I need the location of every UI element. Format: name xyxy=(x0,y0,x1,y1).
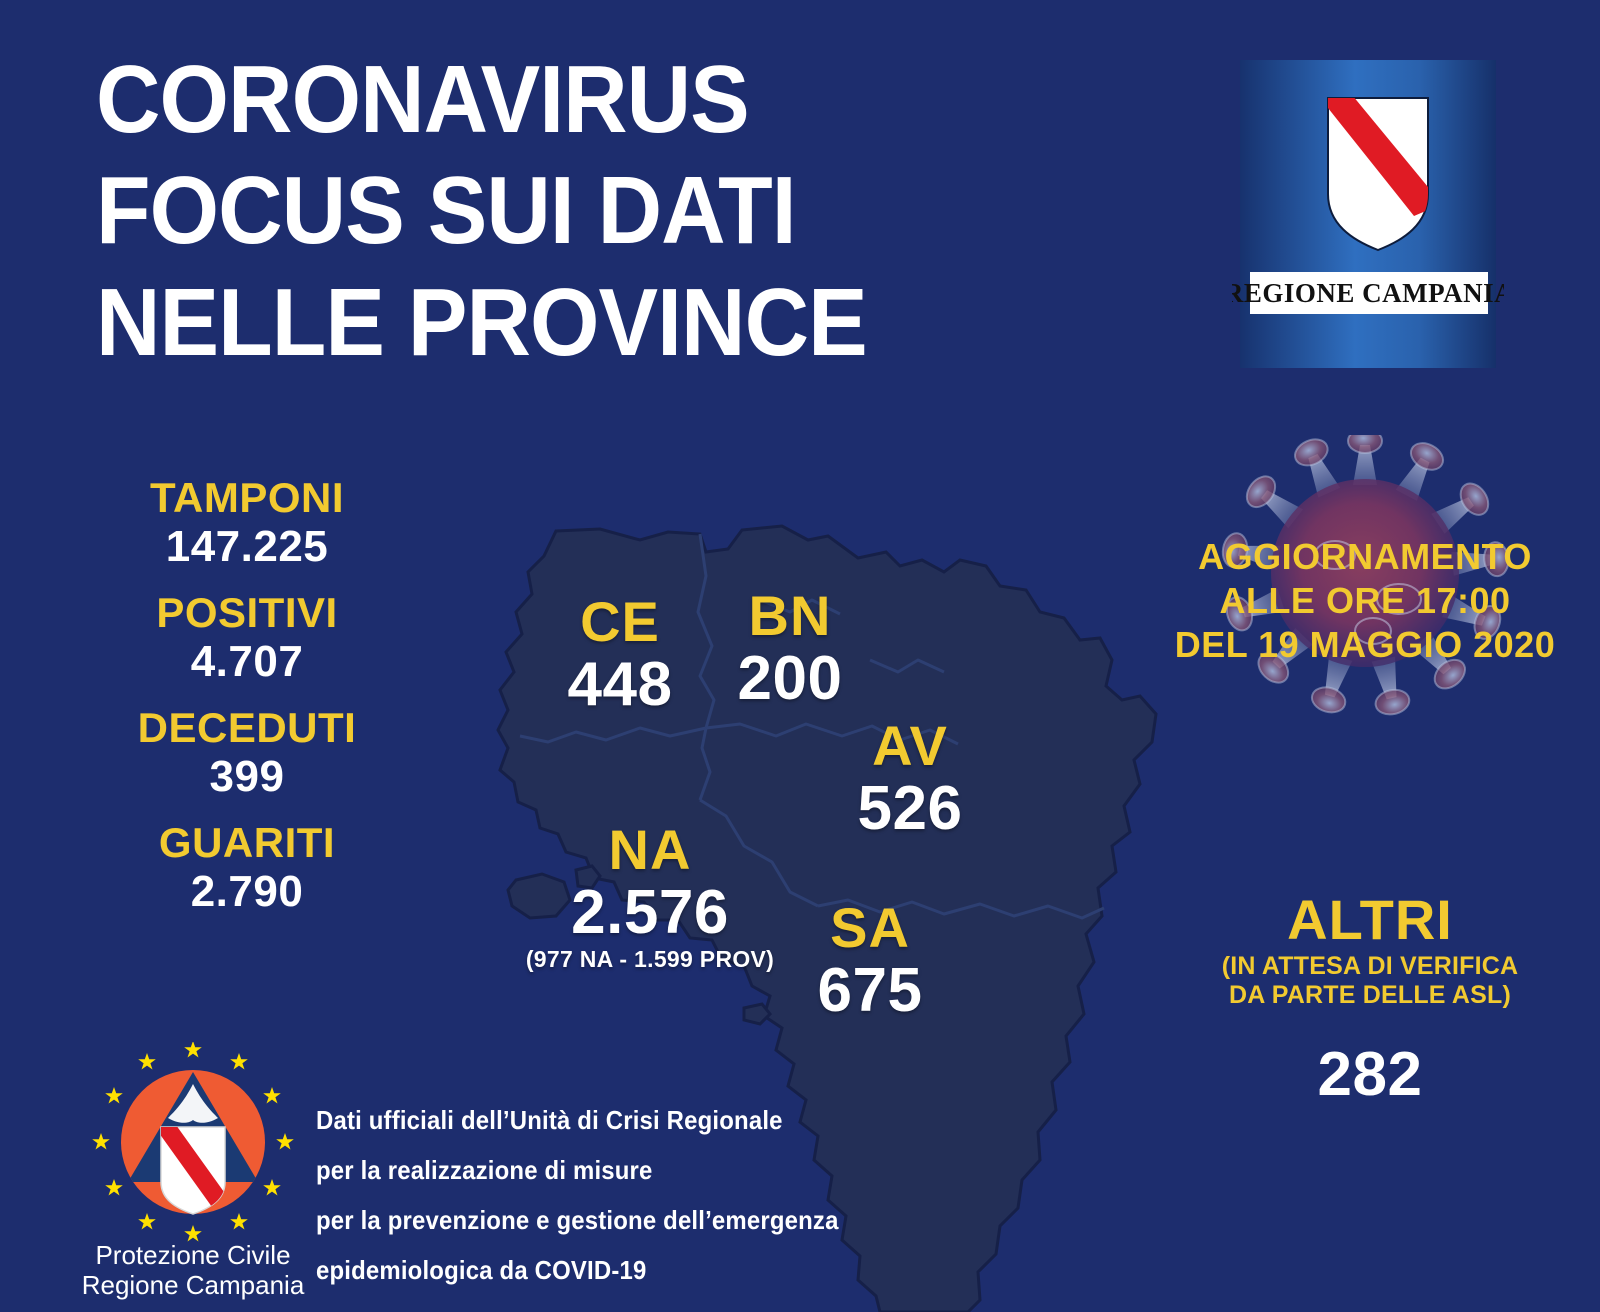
province-label-bn: BN 200 xyxy=(710,588,870,713)
altri-note-line-2: DA PARTE DELLE ASL) xyxy=(1180,981,1560,1010)
stat-value-deceduti: 399 xyxy=(82,751,412,803)
province-value-bn: 200 xyxy=(710,644,870,713)
province-value-na: 2.576 xyxy=(520,878,780,947)
stat-label-tamponi: TAMPONI xyxy=(82,474,412,521)
title-line-3: NELLE PROVINCE xyxy=(96,267,1045,378)
page-title: CORONAVIRUS FOCUS SUI DATI NELLE PROVINC… xyxy=(96,44,1045,378)
protezione-civile-logo: Protezione Civile Regione Campania xyxy=(78,1042,308,1304)
province-value-sa: 675 xyxy=(790,956,950,1025)
province-label-sa: SA 675 xyxy=(790,900,950,1025)
province-code-bn: BN xyxy=(710,588,870,644)
altri-note-line-1: (IN ATTESA DI VERIFICA xyxy=(1180,952,1560,981)
footer-line-2: per la realizzazione di misure xyxy=(316,1146,886,1196)
update-text: AGGIORNAMENTO ALLE ORE 17:00 DEL 19 MAGG… xyxy=(1155,535,1575,667)
footer-disclaimer: Dati ufficiali dell’Unità di Crisi Regio… xyxy=(316,1096,886,1296)
altri-value: 282 xyxy=(1180,1044,1560,1106)
province-label-av: AV 526 xyxy=(830,718,990,843)
title-line-2: FOCUS SUI DATI xyxy=(96,155,1045,266)
altri-title: ALTRI xyxy=(1180,892,1560,948)
logo-caption: REGIONE CAMPANIA xyxy=(1232,278,1504,308)
province-code-av: AV xyxy=(830,718,990,774)
altri-block: ALTRI (IN ATTESA DI VERIFICA DA PARTE DE… xyxy=(1180,892,1560,1106)
province-code-ce: CE xyxy=(540,594,700,650)
province-value-ce: 448 xyxy=(540,650,700,719)
pc-caption-line-1: Protezione Civile xyxy=(95,1240,290,1270)
stat-label-deceduti: DECEDUTI xyxy=(82,704,412,751)
stat-value-guariti: 2.790 xyxy=(82,866,412,918)
footer-line-3: per la prevenzione e gestione dell’emerg… xyxy=(316,1196,886,1246)
province-breakdown-na: (977 NA - 1.599 PROV) xyxy=(520,947,780,972)
province-label-na: NA 2.576 (977 NA - 1.599 PROV) xyxy=(520,822,780,973)
province-code-sa: SA xyxy=(790,900,950,956)
map-island-capri xyxy=(744,1004,770,1024)
title-line-1: CORONAVIRUS xyxy=(96,44,1045,155)
regione-campania-logo: REGIONE CAMPANIA xyxy=(1232,54,1504,374)
infographic-canvas: CORONAVIRUS FOCUS SUI DATI NELLE PROVINC… xyxy=(0,0,1600,1312)
altri-note: (IN ATTESA DI VERIFICA DA PARTE DELLE AS… xyxy=(1180,952,1560,1010)
stat-label-guariti: GUARITI xyxy=(82,819,412,866)
province-value-av: 526 xyxy=(830,774,990,843)
footer-line-4: epidemiologica da COVID-19 xyxy=(316,1246,886,1296)
province-code-na: NA xyxy=(520,822,780,878)
province-label-ce: CE 448 xyxy=(540,594,700,719)
footer-line-1: Dati ufficiali dell’Unità di Crisi Regio… xyxy=(316,1096,886,1146)
stat-value-positivi: 4.707 xyxy=(82,636,412,688)
update-line-2: ALLE ORE 17:00 xyxy=(1155,579,1575,623)
update-line-1: AGGIORNAMENTO xyxy=(1155,535,1575,579)
update-line-3: DEL 19 MAGGIO 2020 xyxy=(1155,623,1575,667)
update-timestamp-block: AGGIORNAMENTO ALLE ORE 17:00 DEL 19 MAGG… xyxy=(1155,435,1575,720)
pc-caption-line-2: Regione Campania xyxy=(82,1270,305,1300)
stat-value-tamponi: 147.225 xyxy=(82,521,412,573)
summary-stats: TAMPONI 147.225 POSITIVI 4.707 DECEDUTI … xyxy=(82,474,412,934)
stat-label-positivi: POSITIVI xyxy=(82,589,412,636)
